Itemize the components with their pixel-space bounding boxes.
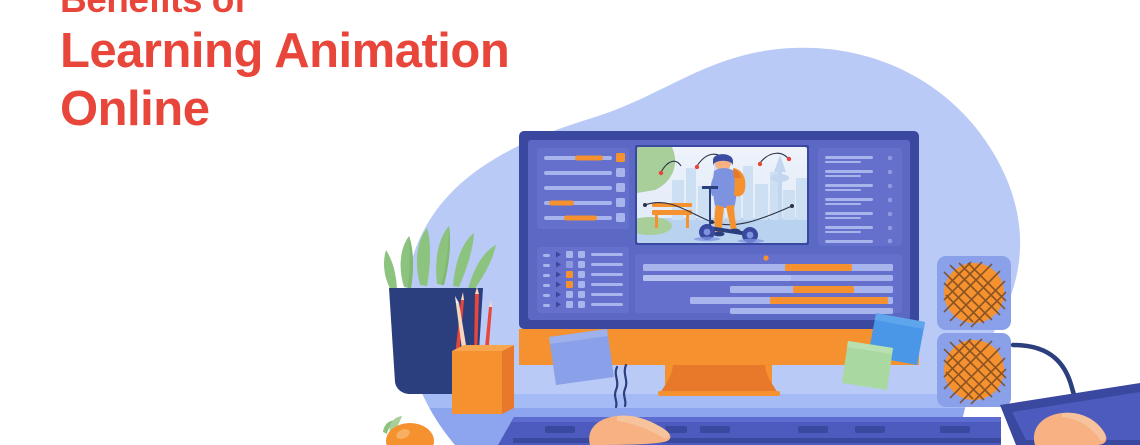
speaker-bottom [937,333,1011,407]
orange-fruit [383,416,434,445]
timeline-tracks-panel [635,254,902,314]
layers-list-panel [537,247,629,313]
illustration-canvas: Benefits of Learning Animation Online [0,0,1140,445]
sticky-note-green [842,341,893,390]
keyboard [498,417,1001,445]
animation-preview-canvas [628,145,809,245]
effects-list-panel [818,148,902,246]
scene-artwork [0,0,1140,445]
properties-sliders-panel [537,148,629,229]
sticky-note-periwinkle [549,329,614,385]
speaker-top [937,256,1011,330]
